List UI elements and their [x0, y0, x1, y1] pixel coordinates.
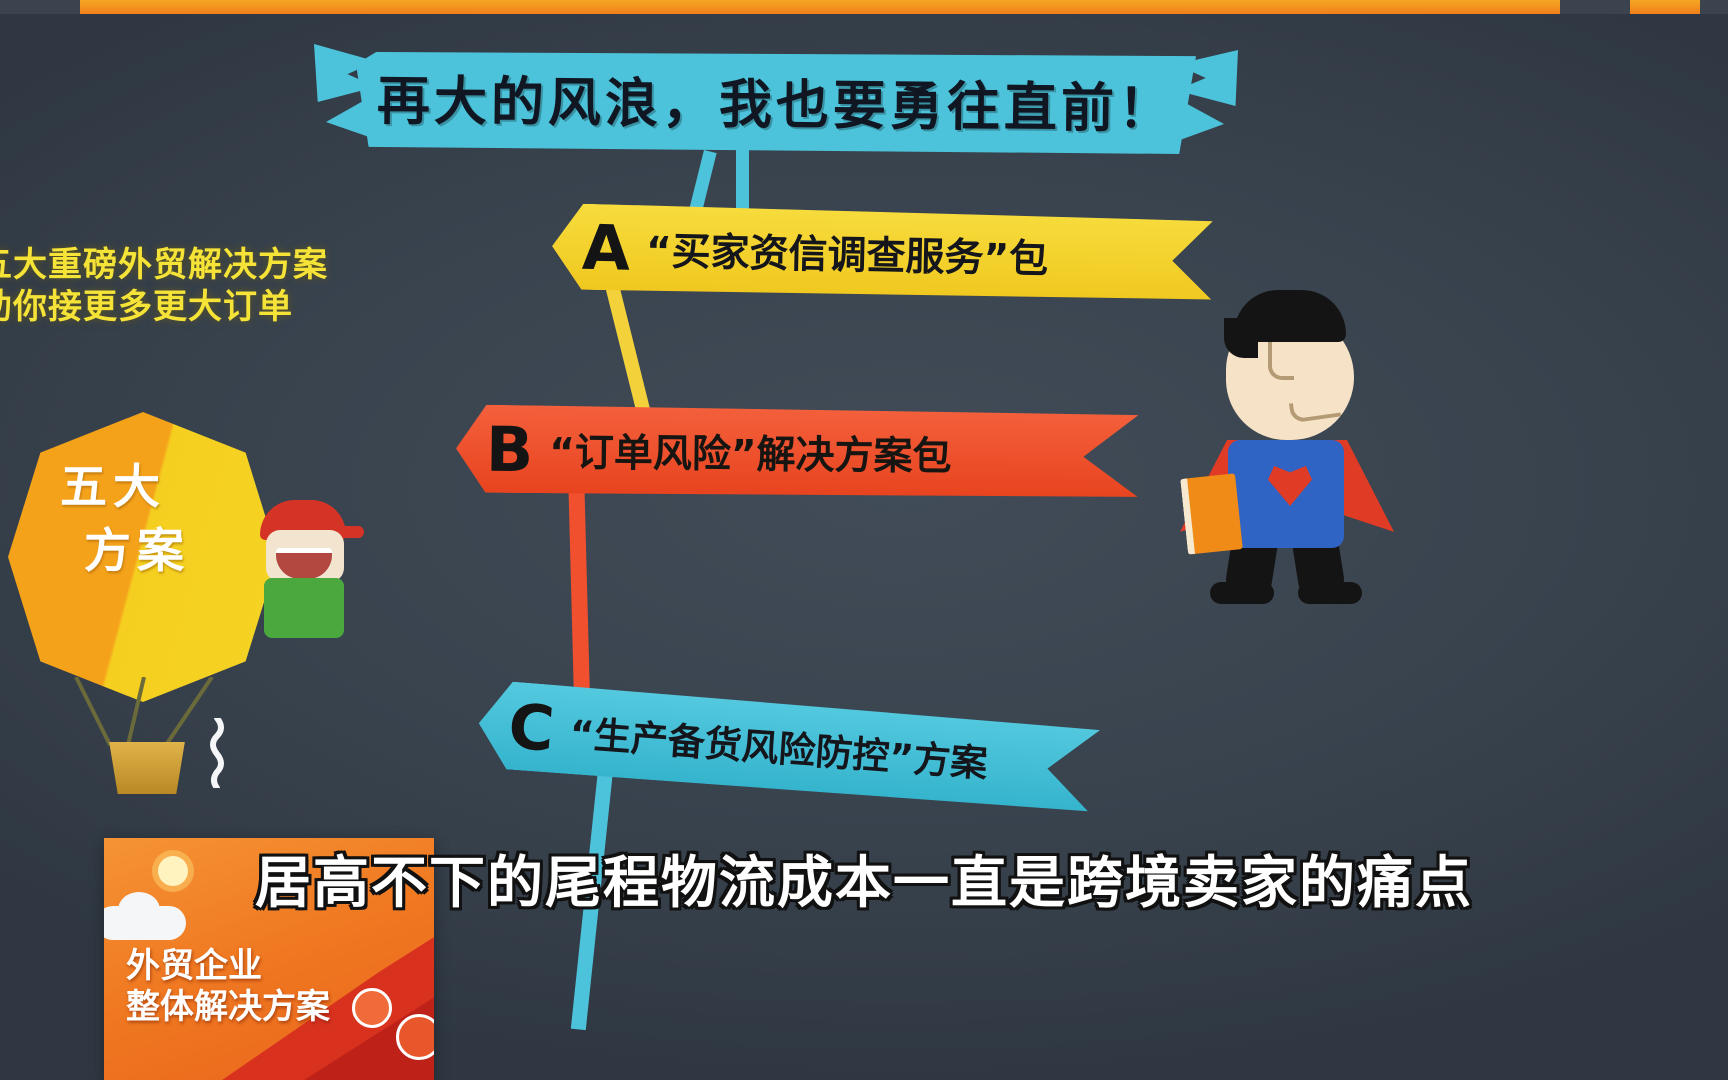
balloon-label-line-2: 方案 [84, 528, 232, 576]
balloon-exhaust-icon [204, 718, 230, 788]
balloon-label-line-1: 五大 [60, 464, 232, 512]
card-text-line-2: 整体解决方案 [126, 987, 426, 1028]
card-text-line-1: 外贸企业 [126, 946, 426, 987]
hero-hair [1234, 290, 1346, 342]
top-accent-strip [0, 0, 1728, 14]
hero-nose [1268, 342, 1294, 380]
poster-canvas: 再大的风浪，我也要勇往直前！ 五大重磅外贸解决方案 助你接更多更大订单 五大 方… [0, 0, 1728, 1080]
hero-shoe-right [1298, 582, 1362, 604]
pilot-body [264, 578, 344, 638]
headline-ribbon: 再大的风浪，我也要勇往直前！ [356, 52, 1196, 154]
balloon-label: 五大 方案 [42, 464, 232, 644]
superhero-character [1172, 290, 1402, 600]
hero-book-icon [1180, 473, 1243, 554]
strip-gap-left [0, 0, 80, 14]
sun-icon [158, 856, 188, 886]
cloud-icon [104, 906, 186, 940]
strip-gap-far-right [1700, 0, 1728, 14]
solution-row-b[interactable]: B “订单风险”解决方案包 [456, 404, 1139, 499]
left-copy-line-1: 五大重磅外贸解决方案 [0, 244, 398, 286]
solution-card-orange[interactable]: 外贸企业 整体解决方案 [104, 838, 434, 1080]
left-copy-line-2: 助你接更多更大订单 [0, 286, 398, 328]
hero-shoe-left [1210, 582, 1274, 604]
balloon-basket-icon [104, 742, 190, 794]
row-b-label: “订单风险”解决方案包 [543, 421, 952, 481]
left-headline-copy: 五大重磅外贸解决方案 助你接更多更大订单 [0, 244, 398, 328]
hot-air-balloon-icon: 五大 方案 [8, 412, 278, 702]
card-text: 外贸企业 整体解决方案 [126, 946, 426, 1028]
balloon-rigging-icon [70, 677, 220, 747]
strip-gap-right [1560, 0, 1630, 14]
balloon-pilot-character [250, 500, 360, 650]
headline-text: 再大的风浪，我也要勇往直前！ [377, 59, 1176, 143]
row-a-label: “买家资信调查服务”包 [639, 220, 1048, 285]
